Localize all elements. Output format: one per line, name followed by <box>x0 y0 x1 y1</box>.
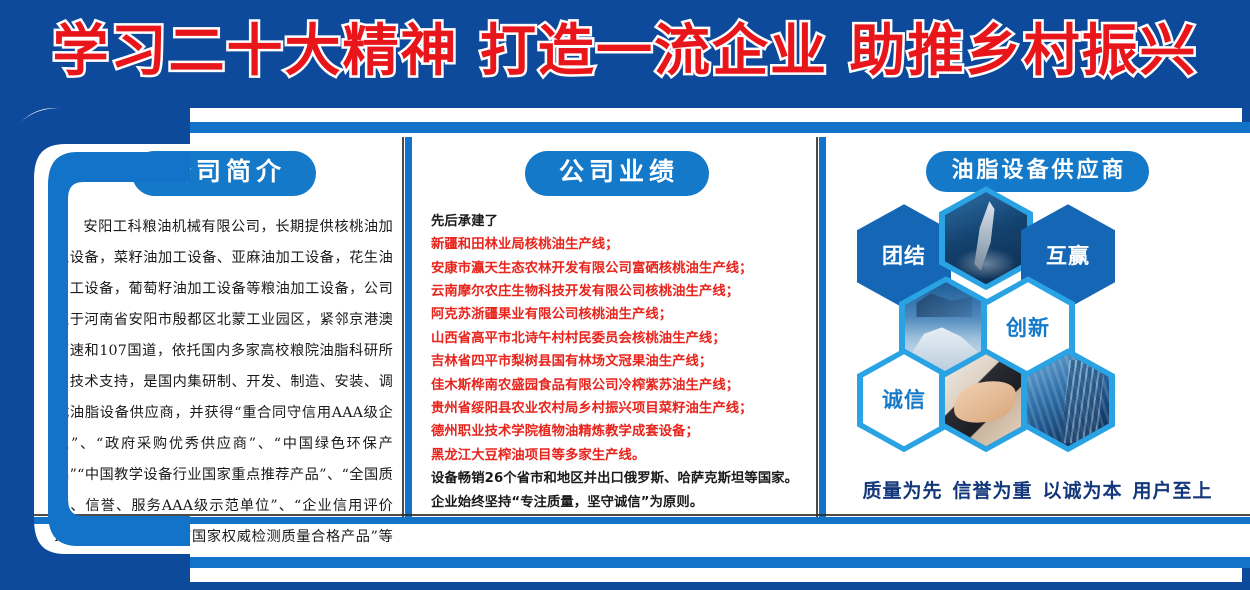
performance-project-item: 云南摩尔农庄生物科技开发有限公司核桃油生产线； <box>431 280 803 303</box>
performance-project-item: 吉林省四平市梨树县国有林场文冠果油生产线； <box>431 350 803 373</box>
performance-project-item: 新疆和田林业局核桃油生产线； <box>431 233 803 256</box>
columns-baseline-rule <box>33 517 1250 524</box>
performance-project-item: 安康市瀛天生态农林开发有限公司富硒核桃油生产线； <box>431 257 803 280</box>
hex-inner: 诚信 <box>863 354 945 446</box>
performance-project-item: 黑龙江大豆榨油项目等多家生产线。 <box>431 444 803 467</box>
poster-headline: 学习二十大精神 打造一流企业 助推乡村振兴 <box>53 24 1198 80</box>
column-divider-1 <box>405 137 412 517</box>
performance-project-item: 贵州省绥阳县农业农村局乡村振兴项目菜籽油生产线； <box>431 397 803 420</box>
performance-project-item: 山西省高平市北诗午村村民委员会核桃油生产线； <box>431 327 803 350</box>
performance-tail-list: 设备畅销26个省市和地区并出口俄罗斯、哈萨克斯坦等国家。企业始终坚持“专注质量，… <box>431 467 803 514</box>
performance-tail-item: 企业始终坚持“专注质量，坚守诚信”为原则。 <box>431 491 803 514</box>
skyscraper-icon <box>1027 354 1109 446</box>
supplier-slogan: 质量为先信誉为重以诚为本用户至上 <box>835 476 1240 503</box>
slogan-part: 用户至上 <box>1133 480 1213 502</box>
slogan-part: 以诚为本 <box>1043 480 1123 502</box>
panel-company-intro: 公司简介 安阳工科粮油机械有限公司，长期提供核桃油加工设备，菜籽油加工设备、亚麻… <box>33 133 405 557</box>
aircraft-carrier-art <box>945 192 1027 284</box>
panel-columns: 公司简介 安阳工科粮油机械有限公司，长期提供核桃油加工设备，菜籽油加工设备、亚麻… <box>33 133 1250 557</box>
performance-project-item: 阿克苏浙疆果业有限公司核桃油生产线； <box>431 303 803 326</box>
headline-band: 学习二十大精神 打造一流企业 助推乡村振兴 <box>0 0 1250 104</box>
performance-tail-item: 设备畅销26个省市和地区并出口俄罗斯、哈萨克斯坦等国家。 <box>431 467 803 490</box>
performance-list: 先后承建了 新疆和田林业局核桃油生产线；安康市瀛天生态农林开发有限公司富硒核桃油… <box>431 210 803 514</box>
poster-content-area: 公司简介 安阳工科粮油机械有限公司，长期提供核桃油加工设备，菜籽油加工设备、亚麻… <box>33 133 1250 557</box>
skyscraper-art <box>1027 354 1109 446</box>
hex-aircraft-carrier-image <box>939 186 1033 290</box>
hex-label: 创新 <box>1006 318 1050 339</box>
badge-company-performance: 公司业绩 <box>525 151 709 196</box>
handshake-art <box>945 354 1027 446</box>
badge-company-intro: 公司简介 <box>132 151 316 196</box>
hex-label: 诚信 <box>882 390 926 411</box>
slogan-part: 质量为先 <box>862 480 942 502</box>
column-divider-2 <box>819 137 826 517</box>
hexagon-cluster: 团结互赢创新诚信 <box>835 198 1240 460</box>
performance-project-list: 新疆和田林业局核桃油生产线；安康市瀛天生态农林开发有限公司富硒核桃油生产线；云南… <box>431 233 803 467</box>
performance-lead: 先后承建了 <box>431 210 803 233</box>
performance-project-item: 德州职业技术学院植物油精炼教学成套设备； <box>431 420 803 443</box>
badge-supplier: 油脂设备供应商 <box>926 151 1148 192</box>
company-intro-body: 安阳工科粮油机械有限公司，长期提供核桃油加工设备，菜籽油加工设备、亚麻油加工设备… <box>55 212 393 557</box>
panel-company-performance: 公司业绩 先后承建了 新疆和田林业局核桃油生产线；安康市瀛天生态农林开发有限公司… <box>405 133 817 557</box>
hex-label: 互赢 <box>1046 246 1090 267</box>
hex-label: 团结 <box>882 246 926 267</box>
handshake-icon <box>945 354 1027 446</box>
performance-project-item: 佳木斯桦南农盛园食品有限公司冷榨紫苏油生产线； <box>431 374 803 397</box>
aircraft-carrier-icon <box>945 192 1027 284</box>
poster-root: 学习二十大精神 打造一流企业 助推乡村振兴 公司简介 安阳工科粮油机械有限公司，… <box>0 0 1250 590</box>
slogan-part: 信誉为重 <box>952 480 1032 502</box>
panel-supplier: 油脂设备供应商 团结互赢创新诚信 质量为先信誉为重以诚为本用户至上 <box>817 133 1250 557</box>
